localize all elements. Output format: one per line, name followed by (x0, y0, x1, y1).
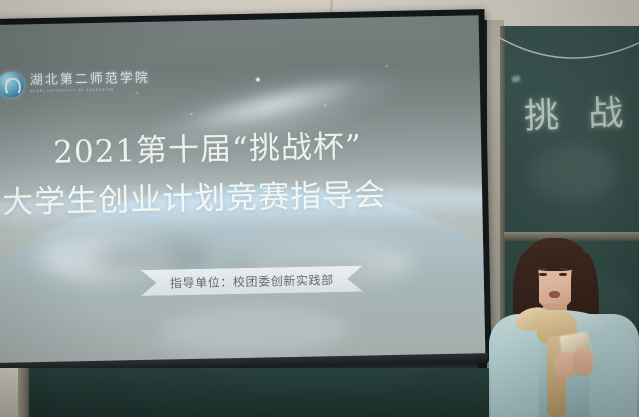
left-post (18, 368, 29, 417)
blackboard-chalk-text: 挑 战 (523, 84, 639, 139)
star (324, 104, 326, 106)
slide-logo: 湖北第二师范学院 HUBEI UNIVERSITY OF EDUCATION (0, 69, 150, 98)
eyebrow-right (558, 268, 568, 270)
eyebrow-left (538, 268, 548, 270)
projector-screen-frame: 湖北第二师范学院 HUBEI UNIVERSITY OF EDUCATION 2… (0, 9, 491, 371)
projector-screen: 湖北第二师范学院 HUBEI UNIVERSITY OF EDUCATION 2… (0, 15, 485, 365)
hand-right (573, 348, 593, 376)
star (190, 113, 192, 115)
slide-title-line-2: 大学生创业计划竞赛指导会 (2, 169, 387, 222)
university-emblem-icon (0, 71, 24, 98)
logo-institution-en: HUBEI UNIVERSITY OF EDUCATION (30, 88, 150, 94)
logo-institution-cn: 湖北第二师范学院 (30, 72, 150, 87)
chalk-smudge (528, 146, 618, 201)
screenshot-root: 挑 战 湖北第二师范学院 (0, 0, 639, 417)
arm-left (491, 332, 539, 417)
star (256, 78, 260, 82)
mouth (549, 291, 560, 298)
slide-ribbon-banner: 指导单位：校团委创新实践部 (141, 266, 363, 296)
person-standing (489, 236, 639, 417)
slide-title-line-1: 2021第十届“挑战杯” (53, 121, 362, 172)
slide-ribbon-text: 指导单位：校团委创新实践部 (170, 271, 334, 291)
arm-right (589, 330, 637, 417)
star (386, 65, 388, 67)
eye-right (559, 273, 567, 276)
eye-left (539, 273, 547, 276)
lower-blackboard-area (29, 368, 504, 417)
logo-wordmark: 湖北第二师范学院 HUBEI UNIVERSITY OF EDUCATION (30, 72, 150, 94)
left-wall-strip (0, 368, 18, 417)
